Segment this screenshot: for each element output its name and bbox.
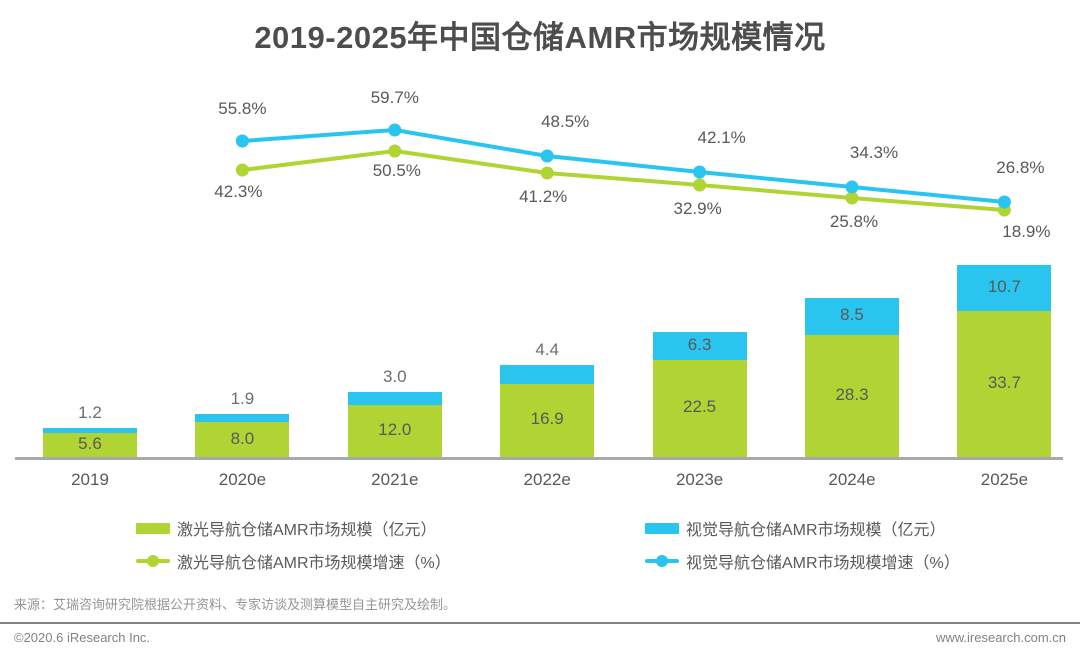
line-value-label-laser-growth: 41.2% bbox=[493, 187, 593, 207]
line-point-vision-growth bbox=[998, 196, 1011, 209]
bar-segment-laser bbox=[500, 384, 594, 457]
x-axis-tick-2021e: 2021e bbox=[335, 470, 455, 490]
line-value-label-laser-growth: 18.9% bbox=[976, 222, 1076, 242]
line-value-label-vision-growth: 42.1% bbox=[672, 128, 772, 148]
bar-segment-vision bbox=[43, 428, 137, 433]
line-point-vision-growth bbox=[236, 135, 249, 148]
x-axis-tick-2024e: 2024e bbox=[792, 470, 912, 490]
legend-item-label: 激光导航仓储AMR市场规模增速（%） bbox=[177, 549, 451, 573]
source-note: 来源：艾瑞咨询研究院根据公开资料、专家访谈及测算模型自主研究及绘制。 bbox=[14, 594, 456, 613]
legend-line-marker-icon bbox=[136, 554, 170, 568]
line-point-laser-growth bbox=[693, 179, 706, 192]
bar-segment-laser bbox=[653, 360, 747, 457]
bar-segment-vision bbox=[195, 414, 289, 422]
line-point-laser-growth bbox=[388, 145, 401, 158]
line-point-vision-growth bbox=[846, 181, 859, 194]
legend-swatch-icon bbox=[645, 523, 679, 534]
line-point-vision-growth bbox=[388, 124, 401, 137]
legend-item-label: 激光导航仓储AMR市场规模（亿元） bbox=[177, 516, 437, 540]
bar-segment-vision bbox=[653, 332, 747, 359]
bar-segment-laser bbox=[805, 335, 899, 457]
line-point-laser-growth bbox=[541, 167, 554, 180]
legend-item-3[interactable]: 激光导航仓储AMR市场规模增速（%） bbox=[136, 549, 451, 573]
bar-segment-vision bbox=[348, 392, 442, 405]
line-value-label-laser-growth: 25.8% bbox=[804, 212, 904, 232]
legend-item-4[interactable]: 视觉导航仓储AMR市场规模增速（%） bbox=[645, 549, 960, 573]
copyright-text: ©2020.6 iResearch Inc. bbox=[14, 630, 150, 645]
legend-item-2[interactable]: 视觉导航仓储AMR市场规模（亿元） bbox=[645, 516, 946, 540]
bar-segment-laser bbox=[43, 433, 137, 457]
bar-segment-vision bbox=[805, 298, 899, 335]
line-point-vision-growth bbox=[541, 150, 554, 163]
line-value-label-vision-growth: 34.3% bbox=[824, 143, 924, 163]
line-value-label-vision-growth: 26.8% bbox=[970, 158, 1070, 178]
chart-legend: 激光导航仓储AMR市场规模（亿元）视觉导航仓储AMR市场规模（亿元）激光导航仓储… bbox=[0, 516, 1080, 578]
website-link[interactable]: www.iresearch.com.cn bbox=[936, 630, 1066, 645]
line-point-laser-growth bbox=[236, 164, 249, 177]
line-value-label-vision-growth: 48.5% bbox=[515, 112, 615, 132]
x-axis-tick-2020e: 2020e bbox=[182, 470, 302, 490]
line-value-label-laser-growth: 32.9% bbox=[648, 199, 748, 219]
x-axis-tick-2019: 2019 bbox=[30, 470, 150, 490]
line-value-label-vision-growth: 59.7% bbox=[345, 88, 445, 108]
x-axis-tick-2023e: 2023e bbox=[640, 470, 760, 490]
bar-segment-laser bbox=[195, 422, 289, 457]
bar-segment-laser bbox=[957, 311, 1051, 457]
legend-line-marker-icon bbox=[645, 554, 679, 568]
legend-swatch-icon bbox=[136, 523, 170, 534]
x-axis-tick-2022e: 2022e bbox=[487, 470, 607, 490]
bar-segment-vision bbox=[957, 265, 1051, 311]
line-value-label-vision-growth: 55.8% bbox=[192, 99, 292, 119]
footer-divider bbox=[0, 622, 1080, 624]
legend-item-label: 视觉导航仓储AMR市场规模增速（%） bbox=[686, 549, 960, 573]
legend-item-label: 视觉导航仓储AMR市场规模（亿元） bbox=[686, 516, 946, 540]
chart-plot-area: 5.61.28.01.912.03.016.94.422.56.328.38.5… bbox=[0, 0, 1080, 470]
legend-item-1[interactable]: 激光导航仓储AMR市场规模（亿元） bbox=[136, 516, 437, 540]
bar-segment-laser bbox=[348, 405, 442, 457]
line-point-vision-growth bbox=[693, 166, 706, 179]
x-axis-tick-2025e: 2025e bbox=[944, 470, 1064, 490]
bar-segment-vision bbox=[500, 365, 594, 384]
x-axis-line bbox=[15, 457, 1063, 460]
line-value-label-laser-growth: 42.3% bbox=[188, 182, 288, 202]
line-value-label-laser-growth: 50.5% bbox=[347, 161, 447, 181]
